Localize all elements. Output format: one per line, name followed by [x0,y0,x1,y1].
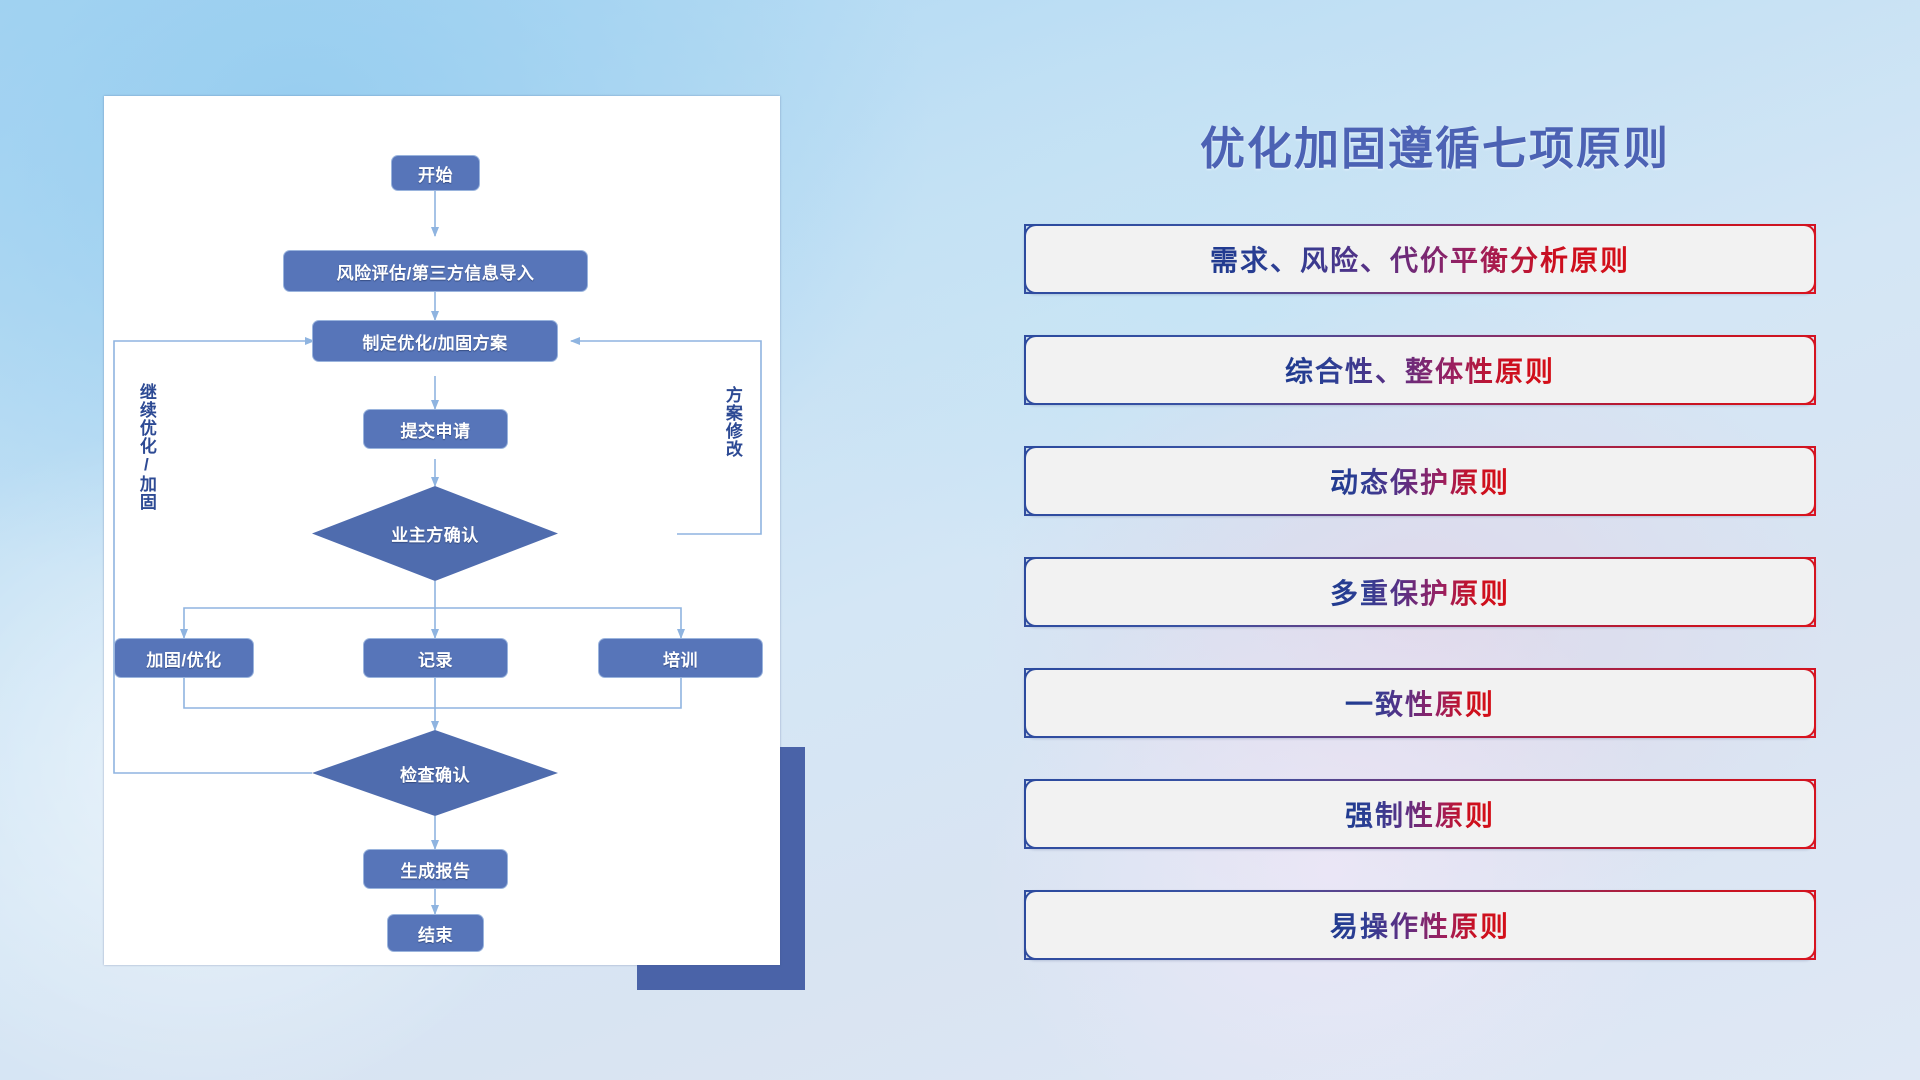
flow-node-submit-application[interactable]: 提交申请 [363,409,508,449]
principle-item[interactable]: 需求、风险、代价平衡分析原则 [1024,224,1816,294]
principle-label: 强制性原则 [1345,794,1495,834]
principle-label: 多重保护原则 [1330,572,1510,612]
principle-item[interactable]: 多重保护原则 [1024,557,1816,627]
principle-list: 需求、风险、代价平衡分析原则 综合性、整体性原则 动态保护原则 多重保护原则 一… [1024,224,1816,1001]
flow-node-label: 记录 [418,646,453,671]
flow-node-generate-report[interactable]: 生成报告 [363,849,508,889]
flow-node-label: 制定优化/加固方案 [362,329,507,354]
flow-node-inspection-confirm[interactable]: 检查确认 [312,730,558,816]
flow-node-label: 风险评估/第三方信息导入 [337,259,535,284]
principle-label: 一致性原则 [1345,683,1495,723]
flow-node-owner-confirm[interactable]: 业主方确认 [312,486,558,581]
principle-item[interactable]: 强制性原则 [1024,779,1816,849]
flow-node-label: 业主方确认 [391,521,479,546]
principle-item[interactable]: 易操作性原则 [1024,890,1816,960]
edge-label-text: 方案修改 [723,386,742,458]
principle-item[interactable]: 综合性、整体性原则 [1024,335,1816,405]
principle-label: 需求、风险、代价平衡分析原则 [1210,239,1630,279]
slide-canvas: 开始 风险评估/第三方信息导入 制定优化/加固方案 提交申请 业主方确认 加固/… [0,0,1920,1080]
flow-node-label: 生成报告 [401,857,471,882]
edge-label-plan-revise: 方案修改 [723,386,741,458]
panel-title: 优化加固遵循七项原则 [1020,112,1850,177]
flow-node-label: 培训 [663,646,698,671]
principle-item[interactable]: 动态保护原则 [1024,446,1816,516]
principle-item[interactable]: 一致性原则 [1024,668,1816,738]
flow-node-plan[interactable]: 制定优化/加固方案 [312,320,558,362]
principle-label: 综合性、整体性原则 [1285,350,1555,390]
edge-label-continue-optimize: 继续优化/加固 [137,383,155,511]
principle-label: 动态保护原则 [1330,461,1510,501]
flow-node-reinforce-optimize[interactable]: 加固/优化 [114,638,254,678]
flow-node-start[interactable]: 开始 [391,155,480,191]
flow-node-risk-assessment[interactable]: 风险评估/第三方信息导入 [283,250,588,292]
principle-label: 易操作性原则 [1330,905,1510,945]
flow-node-record[interactable]: 记录 [363,638,508,678]
flow-node-label: 提交申请 [401,417,471,442]
principles-panel: 优化加固遵循七项原则 需求、风险、代价平衡分析原则 综合性、整体性原则 动态保护… [1020,96,1850,996]
flow-node-end[interactable]: 结束 [387,914,484,952]
flowchart-card: 开始 风险评估/第三方信息导入 制定优化/加固方案 提交申请 业主方确认 加固/… [104,96,780,965]
edge-label-text: 继续优化/加固 [137,383,156,511]
flow-node-label: 检查确认 [400,761,470,786]
flow-node-label: 开始 [418,161,453,186]
flow-node-training[interactable]: 培训 [598,638,763,678]
flow-node-label: 加固/优化 [146,646,221,671]
flow-node-label: 结束 [418,921,453,946]
